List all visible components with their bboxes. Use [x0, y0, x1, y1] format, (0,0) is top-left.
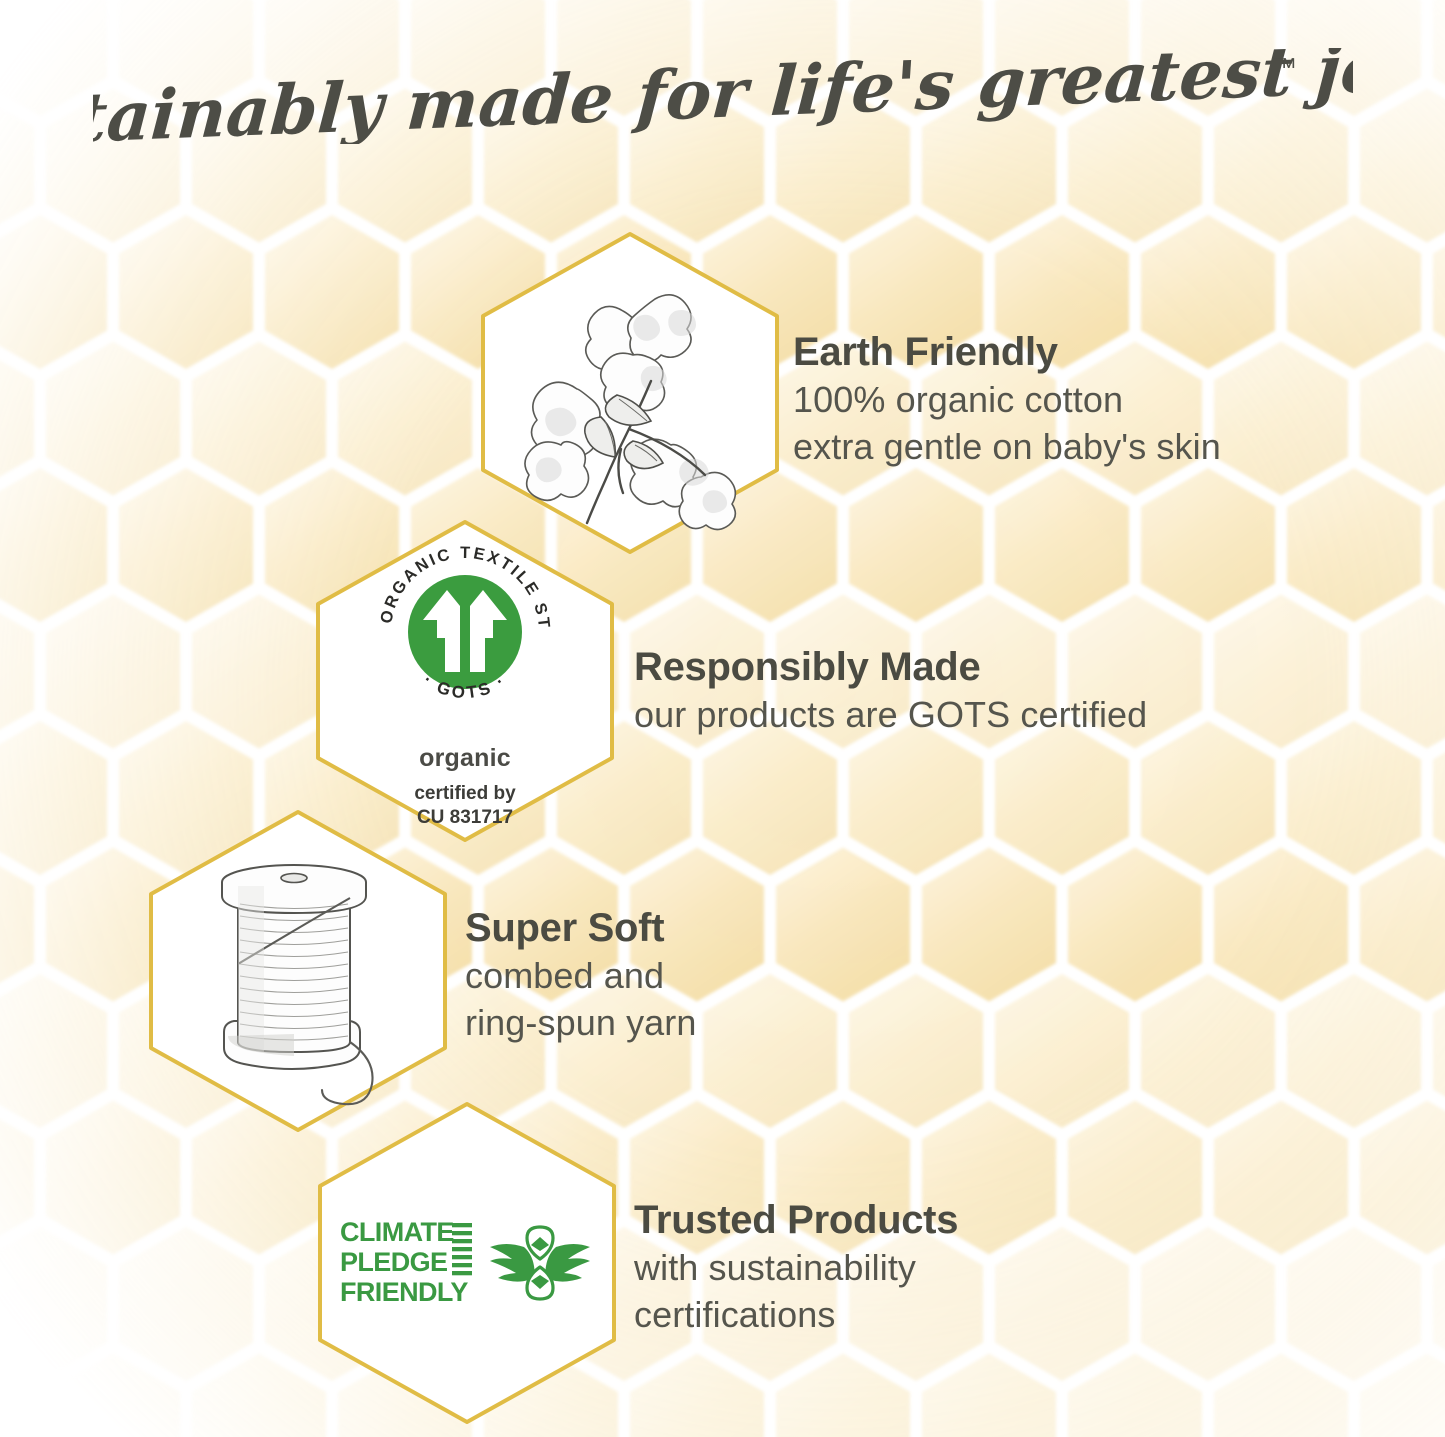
tagline: sustainably made for life's greatest joy…	[0, 48, 1445, 144]
gots-seal-icon: GLOBAL ORGANIC TEXTILE STANDARD · GOTS ·	[365, 532, 565, 732]
spool-center-hole	[281, 874, 307, 883]
feature-line: 100% organic cotton	[793, 377, 1221, 424]
winged-hourglass-icon	[486, 1217, 594, 1309]
feature-title: Trusted Products	[634, 1198, 958, 1243]
cpf-line-3: FRIENDLY	[340, 1277, 468, 1307]
climate-pledge-wordmark: CLIMATE PLEDGE FRIENDLY	[340, 1217, 472, 1309]
infographic-canvas: sustainably made for life's greatest joy…	[0, 0, 1445, 1437]
feature-hex-earth-friendly	[465, 228, 795, 558]
wing-left	[490, 1244, 534, 1282]
feature-text-trusted-products: Trusted Products with sustainability cer…	[634, 1198, 958, 1338]
feature-hex-trusted-products: CLIMATE PLEDGE FRIENDLY	[302, 1098, 632, 1428]
feature-title: Super Soft	[465, 906, 697, 951]
feature-line: our products are GOTS certified	[634, 692, 1147, 739]
feature-text-earth-friendly: Earth Friendly 100% organic cotton extra…	[793, 330, 1221, 470]
wing-right	[546, 1244, 590, 1282]
feature-hex-super-soft	[133, 806, 463, 1136]
feature-hex-responsibly-made: GLOBAL ORGANIC TEXTILE STANDARD · GOTS ·…	[300, 516, 630, 846]
feature-title: Responsibly Made	[634, 645, 1147, 690]
gots-badge: GLOBAL ORGANIC TEXTILE STANDARD · GOTS ·…	[365, 532, 565, 830]
feature-text-super-soft: Super Soft combed and ring-spun yarn	[465, 906, 697, 1046]
cpf-line-2: PLEDGE	[340, 1247, 447, 1277]
feature-text-responsibly-made: Responsibly Made our products are GOTS c…	[634, 645, 1147, 739]
feature-line: extra gentle on baby's skin	[793, 424, 1221, 471]
feature-title: Earth Friendly	[793, 330, 1221, 375]
thread-spool-icon	[188, 846, 408, 1096]
feature-line: certifications	[634, 1292, 958, 1339]
cotton-branch-icon	[505, 263, 755, 523]
feature-line: ring-spun yarn	[465, 1000, 697, 1047]
trademark-symbol: ™	[1271, 52, 1297, 82]
feature-line: combed and	[465, 953, 697, 1000]
cpf-line-1: CLIMATE	[340, 1217, 454, 1247]
gots-organic-label: organic	[419, 744, 511, 773]
cpf-bar-stack	[452, 1223, 472, 1275]
gots-green-circle	[408, 575, 522, 689]
gots-certified-by-label: certified by	[414, 782, 515, 806]
tagline-script-text: sustainably made for life's greatest joy	[93, 48, 1353, 144]
climate-pledge-friendly-logo: CLIMATE PLEDGE FRIENDLY	[340, 1217, 594, 1309]
feature-line: with sustainability	[634, 1245, 958, 1292]
